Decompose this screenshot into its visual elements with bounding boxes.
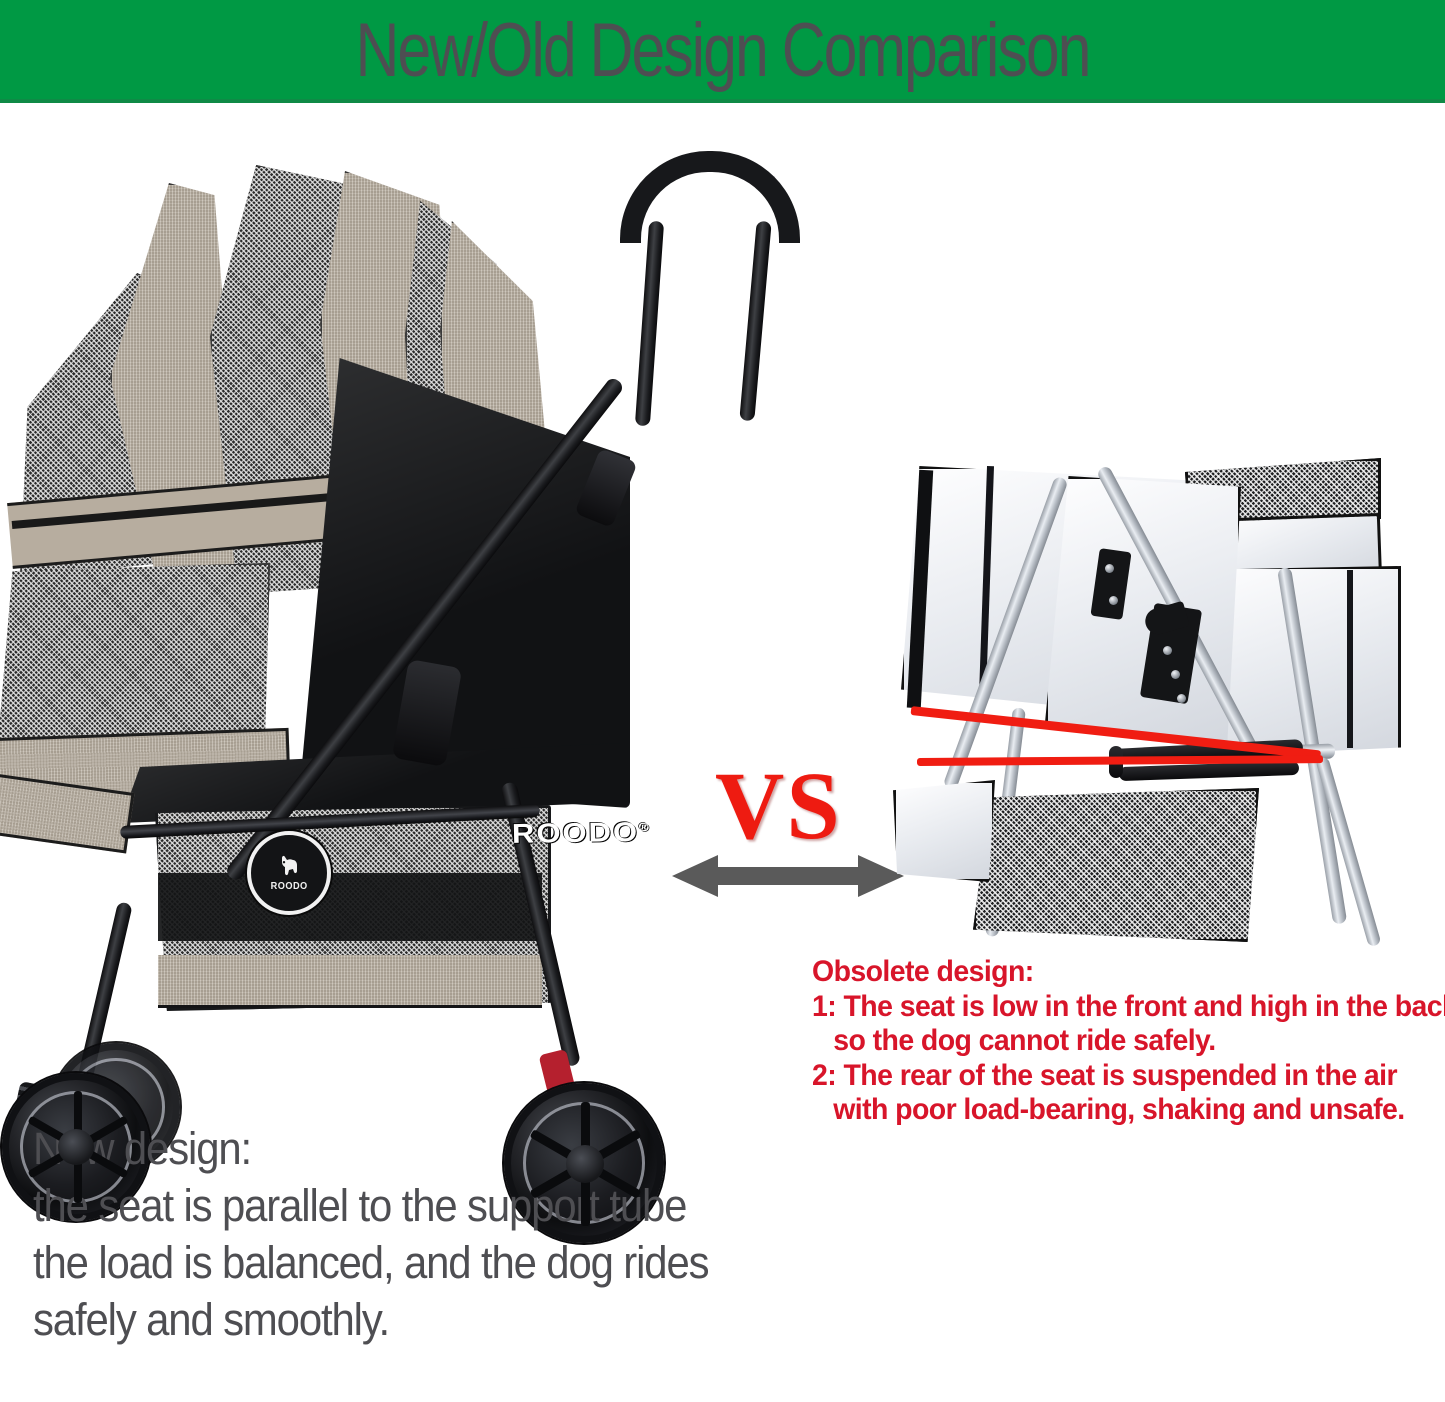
lower-basket-beige-hem [158, 955, 542, 1008]
old-lower-basket-mesh [973, 788, 1259, 942]
old-caption-line: with poor load-bearing, shaking and unsa… [812, 1093, 1430, 1128]
old-cup-pocket [893, 780, 995, 882]
new-design-caption: New design: the seat is parallel to the … [33, 1120, 740, 1348]
lower-basket-dark-stripe [158, 873, 542, 941]
obsolete-design-caption: Obsolete design: 1: The seat is low in t… [812, 955, 1430, 1128]
new-caption-line: the seat is parallel to the support tube [33, 1177, 740, 1234]
old-caption-line: 1: The seat is low in the front and high… [812, 990, 1430, 1025]
dog-icon [276, 855, 302, 881]
old-caption-line: so the dog cannot ride safely. [812, 1024, 1430, 1059]
new-caption-line: the load is balanced, and the dog rides [33, 1234, 740, 1291]
page-title: New/Old Design Comparison [145, 3, 1301, 99]
old-hinge-rivet-1 [1105, 564, 1114, 573]
vs-label: VS [715, 758, 842, 854]
new-design-stroller-image: ROODO ROODO® [0, 143, 700, 1173]
old-seat-middle-panel [1045, 476, 1241, 744]
roodo-wordmark: ROODO® [512, 816, 651, 850]
handle-stem-left [635, 221, 664, 427]
new-caption-line: New design: [33, 1120, 740, 1177]
roodo-logo-badge: ROODO [247, 831, 331, 915]
front-wheel-hub [58, 1129, 94, 1165]
rear-wheel-hub [566, 1145, 604, 1183]
old-caption-line: Obsolete design: [812, 955, 1430, 990]
old-body-piping [1347, 570, 1353, 748]
old-caption-line: 2: The rear of the seat is suspended in … [812, 1059, 1430, 1094]
obsolete-design-stroller-image [895, 458, 1445, 958]
comparison-stage: ROODO ROODO® VS [0, 103, 1445, 1402]
registered-mark: ® [639, 820, 651, 833]
handle-stem-right [739, 221, 771, 422]
roodo-wordmark-text: ROODO [512, 816, 640, 849]
old-hinge-rivet-2 [1109, 596, 1118, 605]
old-bracket-rivet-3 [1177, 694, 1186, 703]
badge-label: ROODO [270, 881, 307, 892]
header-banner: New/Old Design Comparison [0, 0, 1445, 103]
double-headed-arrow-icon [672, 855, 904, 897]
old-bracket-rivet-1 [1163, 646, 1172, 655]
new-caption-line: safely and smoothly. [33, 1291, 740, 1348]
handle-grip[interactable] [620, 151, 800, 243]
old-bracket-rivet-2 [1171, 670, 1180, 679]
